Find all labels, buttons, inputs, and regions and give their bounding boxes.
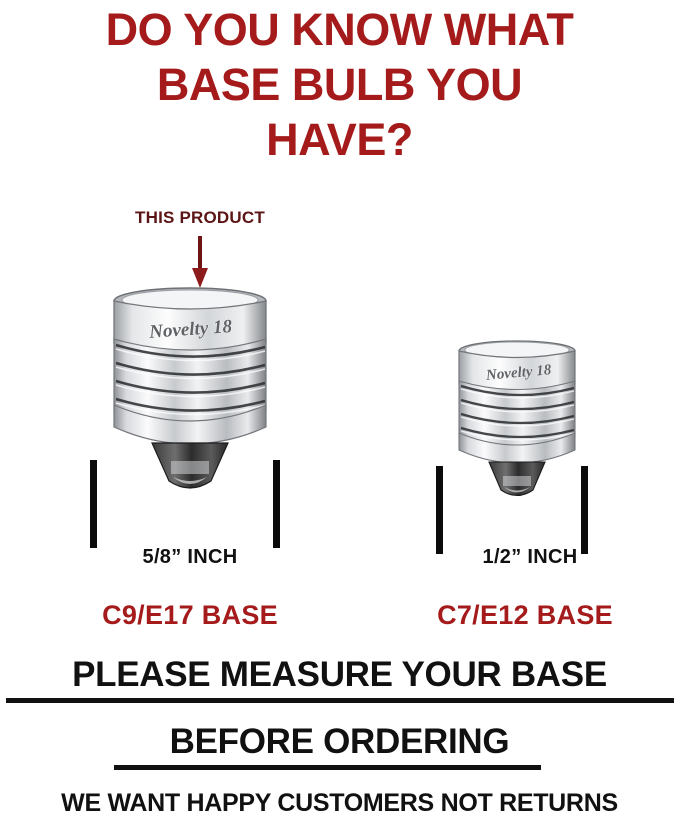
measure-underline (6, 698, 674, 703)
measure-message: PLEASE MEASURE YOUR BASE (0, 655, 679, 695)
bulb-base-image-left: Novelty 18 (95, 285, 285, 520)
base-label-left: C9/E17 BASE (20, 600, 360, 631)
dimension-label-right: 1/2” INCH (375, 546, 679, 569)
measure-tick-right (581, 466, 588, 554)
headline-line-2: BASE BULB YOU (0, 57, 679, 112)
measure-tick-left (436, 466, 443, 554)
measure-tick-right (273, 460, 280, 548)
headline-line-1: DO YOU KNOW WHAT (0, 2, 679, 57)
base-label-right: C7/E12 BASE (355, 600, 679, 631)
ordering-underline (114, 765, 541, 770)
bulb-base-image-right: Novelty 18 (445, 338, 590, 520)
bulb-figure-right: Novelty 18 (445, 338, 590, 520)
dimension-label-left: 5/8” INCH (35, 546, 345, 569)
page-headline: DO YOU KNOW WHAT BASE BULB YOU HAVE? (0, 2, 679, 167)
this-product-label: THIS PRODUCT (110, 208, 290, 228)
returns-message: WE WANT HAPPY CUSTOMERS NOT RETURNS (0, 789, 679, 818)
measure-tick-left (90, 460, 97, 548)
bulb-figure-left: Novelty 18 (95, 285, 285, 520)
headline-line-3: HAVE? (0, 112, 679, 167)
down-arrow-icon (188, 236, 212, 288)
ordering-message: BEFORE ORDERING (0, 722, 679, 762)
